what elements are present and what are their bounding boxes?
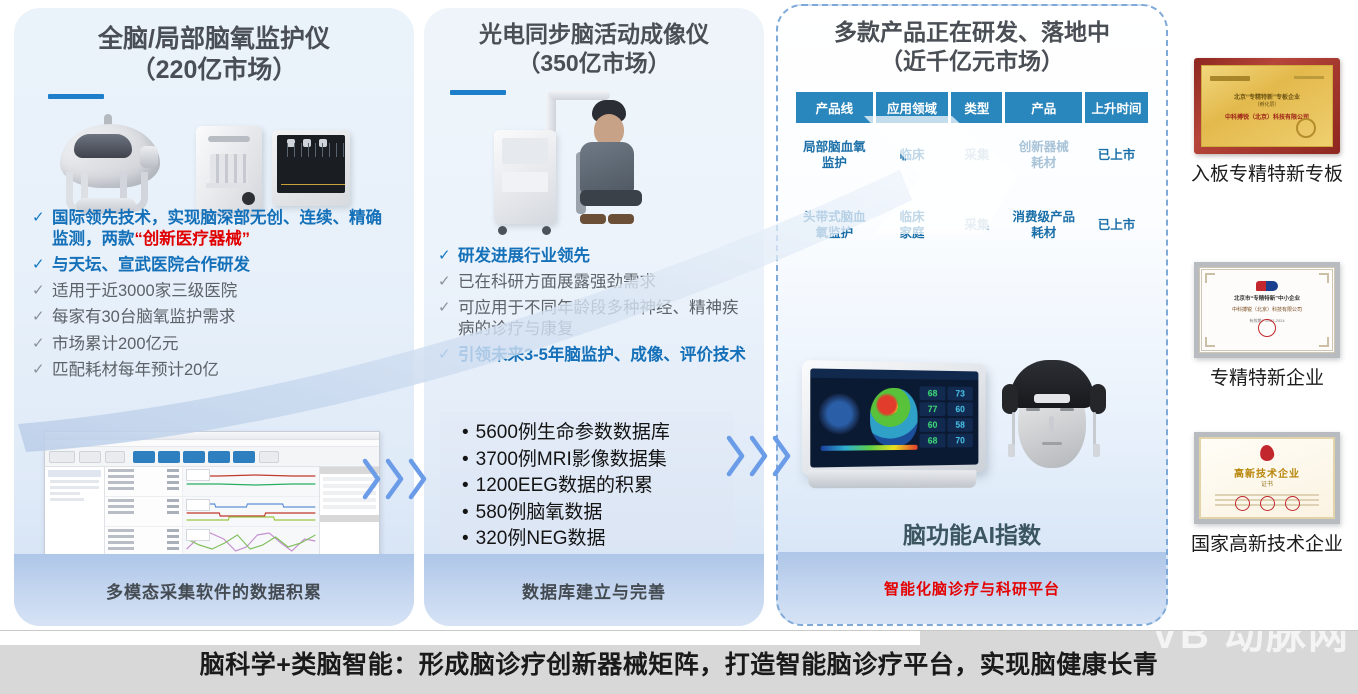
bullet-text: 匹配耗材每年预计20亿 [52,360,219,381]
panel2-bullet-list: ✓ 研发进展行业领先 ✓ 已在科研方面展露强劲需求 ✓ 可应用于不同年龄段多种神… [438,246,752,372]
reading-value: 70 [947,434,972,448]
monitor-readings: 68 73 77 60 60 58 68 70 [920,386,973,447]
panel3-footer-label: 智能化脑诊疗与科研平台 [884,578,1060,599]
ai-index-title: 脑功能AI指数 [778,516,1166,550]
brain-monitor-device-image: 68 73 77 60 60 58 68 70 [800,358,998,494]
check-icon: ✓ [32,334,52,354]
bullet-text: 已在科研方面展露强劲需求 [458,272,656,293]
panel-brain-oxygen-monitor: 全脑/局部脑氧监护仪 （220亿市场） ✓ [14,8,414,626]
list-item: ✓ 引领未来3-5年脑监护、成像、评价技术 [438,345,752,366]
chevron-group-2 [726,432,792,480]
table-cell: 局部脑血氧监护 [796,133,873,177]
reading-value: 68 [920,434,946,448]
bullet-text: 适用于近3000家三级医院 [52,281,237,302]
imaging-device-image [484,90,694,250]
bullet-text: 引领未来3-5年脑监护、成像、评价技术 [458,345,746,366]
certificate-line1: 北京“专精特新”专板企业 [1202,92,1332,101]
panel1-bullet-list: ✓ 国际领先技术，实现脑深部无创、连续、精确监测，两款“创新医疗器械” ✓ 与天… [32,208,396,386]
reading-value: 68 [920,386,946,400]
panel1-footer-label: 多模态采集软件的数据积累 [106,578,322,603]
bullet-text: 研发进展行业领先 [458,246,590,267]
seal-group [1201,496,1333,511]
list-item: 1200EEG数据的积累 [462,473,734,500]
panel1-title-line2: （220亿市场） [14,55,414,86]
certificate-line2: （孵化层） [1202,101,1332,108]
chevron-right-icon [772,432,792,480]
certificate-line1: 高新技术企业 [1201,465,1333,480]
chevron-right-icon [408,455,428,503]
certificate-2-label: 专精特新企业 [1178,363,1356,390]
seal-icon [1296,118,1316,138]
bottom-banner: VB 动脉网 脑科学+类脑智能：形成脑诊疗创新器械矩阵，打造智能脑诊疗平台，实现… [0,630,1358,694]
list-item: 320例NEG数据 [462,526,734,553]
panel2-footer-label: 数据库建立与完善 [522,578,666,603]
check-icon: ✓ [32,208,52,228]
check-icon: ✓ [438,272,458,292]
list-item: ✓ 可应用于不同年龄段多种神经、精神疾病的诊疗与康复 [438,298,752,340]
panel3-title: 多款产品正在研发、落地中 （近千亿元市场） [778,18,1166,75]
bullet-text: 市场累计200亿元 [52,334,179,355]
certificate-1-label: 入板专精特新专板 [1178,159,1356,186]
list-item: ✓ 国际领先技术，实现脑深部无创、连续、精确监测，两款“创新医疗器械” [32,208,396,250]
table-header-cell: 产品线 [796,92,873,123]
panel-optical-brain-imaging: 光电同步脑活动成像仪 （350亿市场） ✓ 研发进展行业领先 ✓ [424,8,764,626]
check-icon: ✓ [32,281,52,301]
certificate-line2: 证书 [1201,479,1333,488]
panel2-title-line2: （350亿市场） [424,49,764,78]
panel2-title-line1: 光电同步脑活动成像仪 [424,20,764,49]
table-header-cell: 上升时间 [1085,92,1148,123]
slide-root: 全脑/局部脑氧监护仪 （220亿市场） ✓ [0,0,1358,694]
highlight-text: “创新医疗器械” [135,230,251,248]
chevron-group-1 [362,455,428,503]
reading-value: 77 [920,402,946,416]
chevron-right-icon [726,432,746,480]
banner-text: 脑科学+类脑智能：形成脑诊疗创新器械矩阵，打造智能脑诊疗平台，实现脑健康长青 [200,645,1159,681]
panel1-title-line1: 全脑/局部脑氧监护仪 [14,24,414,55]
panel-products-in-development: 多款产品正在研发、落地中 （近千亿元市场） 产品线 应用领域 类型 产品 上升时… [776,4,1168,626]
panel3-title-line1: 多款产品正在研发、落地中 [778,18,1166,47]
panel1-title-underline [48,94,104,99]
check-icon: ✓ [32,307,52,327]
bedside-monitor-image [272,130,350,206]
list-item: ✓ 已在科研方面展露强劲需求 [438,272,752,293]
check-icon: ✓ [438,298,458,318]
certificate-line1: 北京市“专精特新”中小企业 [1202,294,1332,302]
panel2-footer: 数据库建立与完善 [424,554,764,626]
reading-value: 58 [947,418,972,432]
panel2-title: 光电同步脑活动成像仪 （350亿市场） [424,20,764,77]
list-item: 3700例MRI影像数据集 [462,447,734,474]
reading-value: 60 [920,418,946,432]
panel1-footer: 多模态采集软件的数据积累 [14,554,414,626]
watermark: VB 动脉网 [1151,630,1350,660]
list-item: ✓ 市场累计200亿元 [32,334,396,355]
certificate-2: 北京市“专精特新”中小企业 中科搏锐（北京）科技有限公司 有效期：2022-20… [1178,262,1356,390]
chevron-right-icon [749,432,769,480]
panel3-footer: 智能化脑诊疗与科研平台 [778,552,1166,624]
bullet-text: 每家有30台脑氧监护需求 [52,307,235,328]
list-item: ✓ 研发进展行业领先 [438,246,752,267]
arrow-head-overlay [864,114,1054,244]
certificate-frame-image: 北京市“专精特新”中小企业 中科搏锐（北京）科技有限公司 有效期：2022-20… [1194,262,1340,358]
panel3-title-line2: （近千亿元市场） [778,47,1166,76]
monitor-box-device-image [196,126,262,212]
list-item: 580例脑氧数据 [462,500,734,527]
table-cell: 已上市 [1085,211,1148,239]
certificate-plaque-image: 北京“专精特新”专板企业 （孵化层） 中科搏锐（北京）科技有限公司 [1194,58,1340,154]
certificate-3: 高新技术企业 证书 国家高新技术企业 [1178,432,1356,556]
helmet-device-image [52,120,170,216]
seal-icon [1202,319,1332,342]
acquisition-software-screenshot [44,431,380,564]
check-icon: ✓ [32,255,52,275]
certificate-hightech-image: 高新技术企业 证书 [1194,432,1340,524]
check-icon: ✓ [438,246,458,266]
reading-value: 73 [947,387,972,401]
certificate-line2: 中科搏锐（北京）科技有限公司 [1202,306,1332,313]
banner-top-shade [0,631,920,645]
chevron-right-icon [385,455,405,503]
reading-value: 60 [947,402,972,416]
data-accumulation-box: 5600例生命参数数据库 3700例MRI影像数据集 1200EEG数据的积累 … [440,412,734,550]
list-item: ✓ 适用于近3000家三级医院 [32,281,396,302]
table-cell: 头带式脑血氧监护 [796,203,873,247]
check-icon: ✓ [438,345,458,365]
list-item: ✓ 每家有30台脑氧监护需求 [32,307,396,328]
table-cell: 已上市 [1085,141,1148,169]
list-item: ✓ 匹配耗材每年预计20亿 [32,360,396,381]
chevron-right-icon [362,455,382,503]
bullet-text: 可应用于不同年龄段多种神经、精神疾病的诊疗与康复 [458,298,752,340]
list-item: ✓ 与天坛、宣武医院合作研发 [32,255,396,276]
panel1-title: 全脑/局部脑氧监护仪 （220亿市场） [14,24,414,86]
bullet-text: 与天坛、宣武医院合作研发 [52,255,250,276]
certificate-3-label: 国家高新技术企业 [1178,529,1356,556]
flame-icon [1259,444,1275,462]
check-icon: ✓ [32,360,52,380]
list-item: 5600例生命参数数据库 [462,420,734,447]
certificate-1: 北京“专精特新”专板企业 （孵化层） 中科搏锐（北京）科技有限公司 入板专精特新… [1178,58,1356,186]
bullet-text: 国际领先技术，实现脑深部无创、连续、精确监测，两款“创新医疗器械” [52,208,396,250]
eeg-cap-head-model-image [1000,354,1108,482]
